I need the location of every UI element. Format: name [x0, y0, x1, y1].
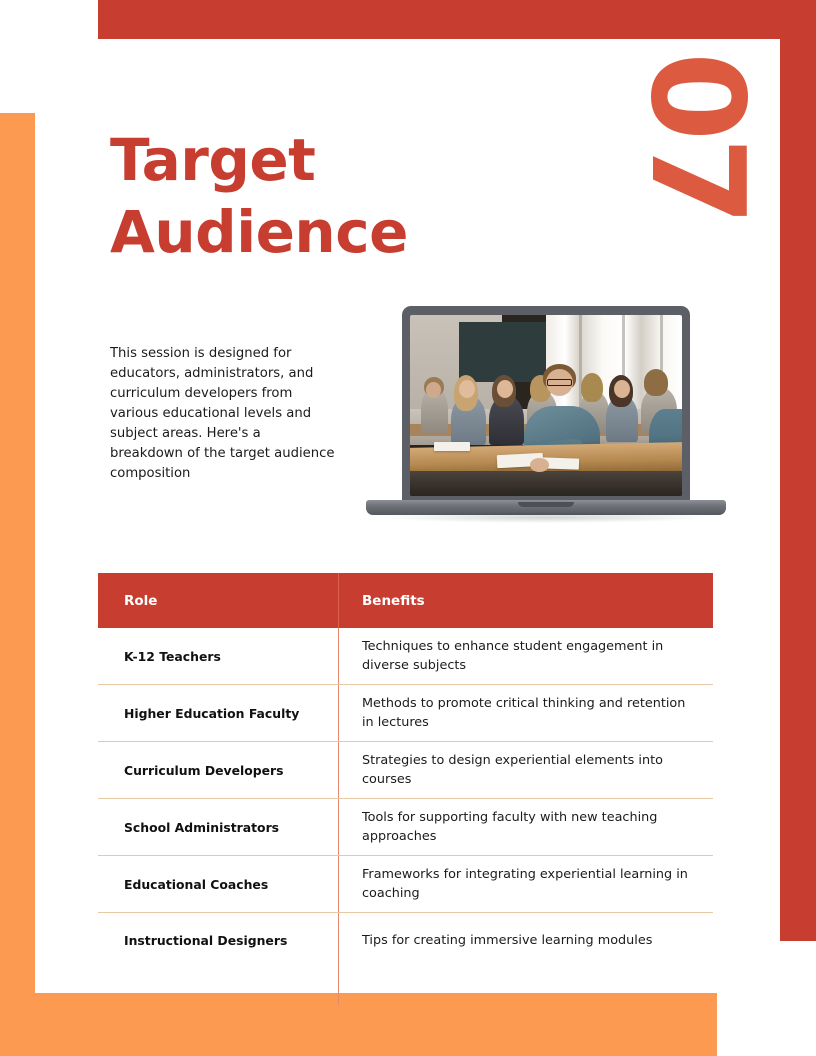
photo-student-hair: [644, 369, 668, 396]
table-row: Educational Coaches Frameworks for integ…: [98, 856, 713, 913]
table-cell-role: School Administrators: [98, 799, 338, 855]
table-row: K-12 Teachers Techniques to enhance stud…: [98, 628, 713, 685]
table-cell-role: K-12 Teachers: [98, 628, 338, 684]
photo-student-hair: [581, 373, 603, 402]
decor-left-orange-bar: [0, 113, 35, 993]
decor-top-red-bar: [98, 0, 780, 39]
table-cell-role: Higher Education Faculty: [98, 685, 338, 741]
decor-right-red-bar: [779, 0, 816, 941]
table-cell-benefit: Strategies to design experiential elemen…: [338, 742, 713, 798]
table-header-row: Role Benefits: [98, 573, 713, 628]
classroom-photo: [410, 315, 682, 496]
laptop-screen: [410, 315, 682, 496]
photo-floor: [410, 471, 682, 496]
table-row: Higher Education Faculty Methods to prom…: [98, 685, 713, 742]
laptop-lid: [402, 306, 690, 502]
page-title-line-1: Target: [110, 124, 590, 196]
photo-paper: [434, 442, 469, 451]
decor-bottom-orange-bar: [0, 993, 717, 1056]
table-header-column-divider: [338, 573, 339, 628]
intro-paragraph: This session is designed for educators, …: [110, 344, 335, 484]
laptop-mockup: [366, 306, 726, 528]
table-cell-role: Educational Coaches: [98, 856, 338, 912]
table-row: Instructional Designers Tips for creatin…: [98, 913, 713, 967]
table-cell-role: Instructional Designers: [98, 913, 338, 967]
laptop-shadow: [384, 512, 708, 523]
audience-table: Role Benefits K-12 Teachers Techniques t…: [98, 573, 713, 967]
table-cell-benefit: Techniques to enhance student engagement…: [338, 628, 713, 684]
photo-chalkboard: [459, 322, 546, 382]
table-cell-benefit: Frameworks for integrating experiential …: [338, 856, 713, 912]
laptop-notch: [518, 502, 574, 507]
table-cell-benefit: Tips for creating immersive learning mod…: [338, 913, 713, 967]
photo-foreground-student-glasses: [547, 379, 571, 385]
table-header-role: Role: [98, 573, 338, 628]
table-row: Curriculum Developers Strategies to desi…: [98, 742, 713, 799]
page-title-line-2: Audience: [110, 196, 590, 268]
table-row: School Administrators Tools for supporti…: [98, 799, 713, 856]
page-title: Target Audience: [110, 124, 590, 268]
table-cell-benefit: Methods to promote critical thinking and…: [338, 685, 713, 741]
table-header-benefits: Benefits: [338, 573, 713, 628]
table-cell-role: Curriculum Developers: [98, 742, 338, 798]
table-cell-benefit: Tools for supporting faculty with new te…: [338, 799, 713, 855]
slide-page: 07 Target Audience This session is desig…: [0, 0, 816, 1056]
